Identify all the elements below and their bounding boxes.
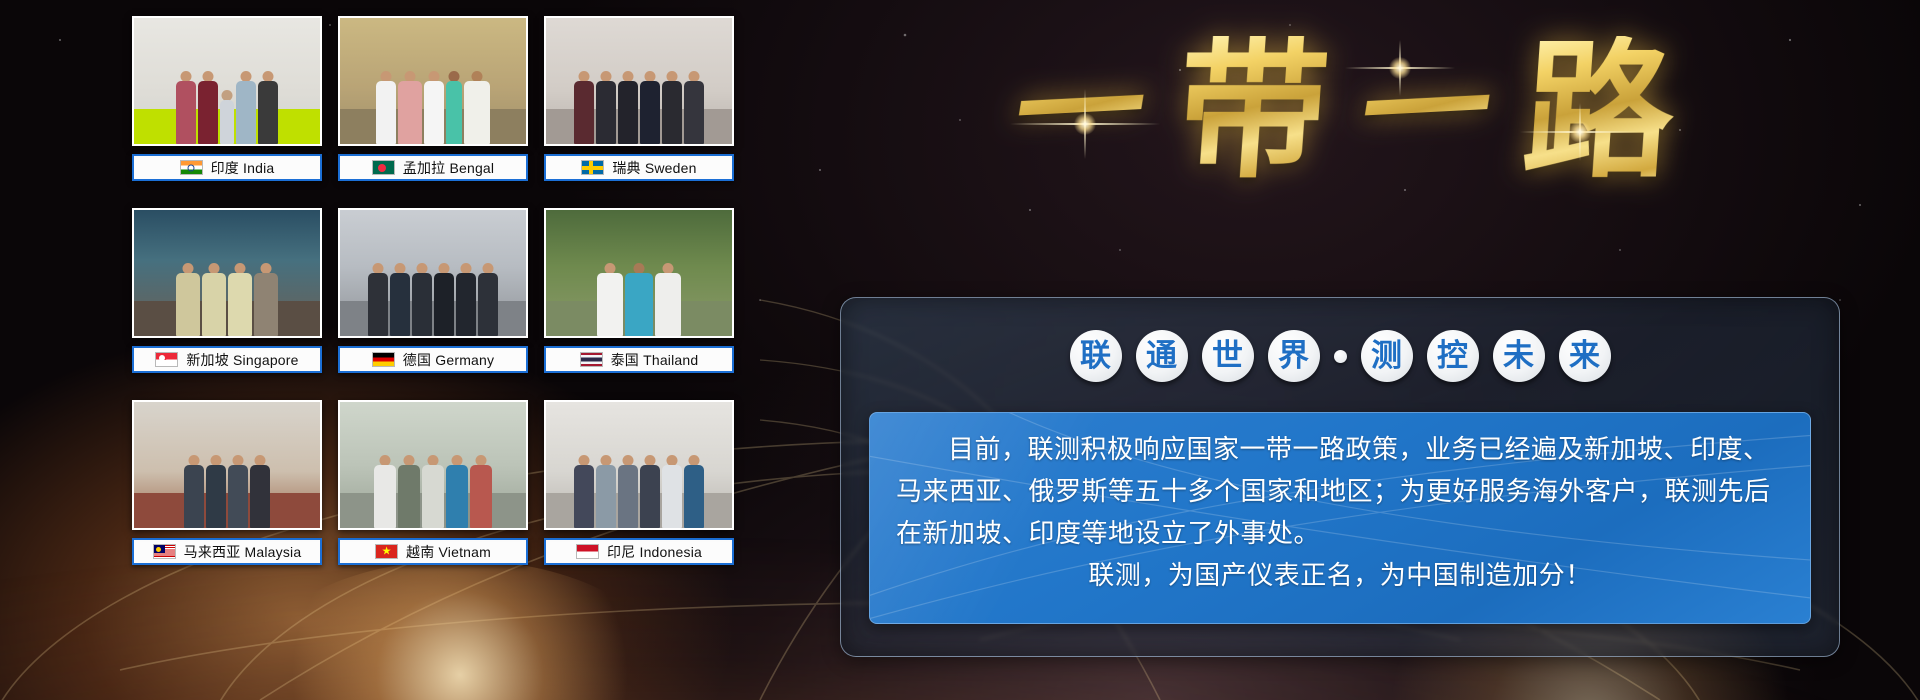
country-label: 印尼 Indonesia <box>544 538 734 565</box>
country-photo[interactable] <box>132 16 322 146</box>
country-label-text: 德国 Germany <box>403 353 494 367</box>
gallery-item[interactable]: 瑞典 Sweden <box>544 16 734 186</box>
country-photo[interactable] <box>338 16 528 146</box>
slogan-char-lian: 联 <box>1070 330 1122 382</box>
country-label-text: 瑞典 Sweden <box>612 161 696 175</box>
gallery-item[interactable]: 越南 Vietnam <box>338 400 528 570</box>
gallery-item[interactable]: 孟加拉 Bengal <box>338 16 528 186</box>
slogan-char-ce: 测 <box>1361 330 1413 382</box>
thailand-flag <box>580 352 603 367</box>
vietnam-flag <box>375 544 398 559</box>
country-label: 新加坡 Singapore <box>132 346 322 373</box>
sweden-flag <box>581 160 604 175</box>
gallery-item[interactable]: 泰国 Thailand <box>544 208 734 378</box>
slogan-char-shi: 世 <box>1202 330 1254 382</box>
country-label: 马来西亚 Malaysia <box>132 538 322 565</box>
slogan-separator-dot <box>1334 350 1347 363</box>
country-label-text: 印度 India <box>211 161 275 175</box>
indonesia-flag <box>576 544 599 559</box>
country-label-text: 泰国 Thailand <box>611 353 699 367</box>
calligraphy-char-2: 带 <box>1173 36 1334 186</box>
country-label: 德国 Germany <box>338 346 528 373</box>
gallery-item[interactable]: 印度 India <box>132 16 322 186</box>
description-paragraph-2: 联测，为国产仪表正名，为中国制造加分！ <box>896 555 1784 597</box>
malaysia-flag <box>153 544 176 559</box>
country-photo[interactable] <box>544 208 734 338</box>
country-label-text: 新加坡 Singapore <box>186 353 298 367</box>
country-label: 越南 Vietnam <box>338 538 528 565</box>
calligraphy-title: 一 带 一 路 <box>840 6 1850 216</box>
right-content-area: 一 带 一 路 联 通 世 界 测 控 未 <box>760 0 1920 700</box>
info-panel: 联 通 世 界 测 控 未 来 <box>840 297 1840 657</box>
singapore-flag <box>155 352 178 367</box>
gallery-item[interactable]: 马来西亚 Malaysia <box>132 400 322 570</box>
slogan-char-wei: 未 <box>1493 330 1545 382</box>
gallery-item[interactable]: 新加坡 Singapore <box>132 208 322 378</box>
germany-flag <box>372 352 395 367</box>
calligraphy-char-1: 一 <box>1005 44 1155 179</box>
description-text: 目前，联测积极响应国家一带一路政策，业务已经遍及新加坡、印度、马来西亚、俄罗斯等… <box>896 429 1784 597</box>
country-photo[interactable] <box>544 400 734 530</box>
country-photo[interactable] <box>338 208 528 338</box>
description-box: 目前，联测积极响应国家一带一路政策，业务已经遍及新加坡、印度、马来西亚、俄罗斯等… <box>869 412 1811 624</box>
country-photo[interactable] <box>338 400 528 530</box>
slogan-char-jie: 界 <box>1268 330 1320 382</box>
slogan-char-lai: 来 <box>1559 330 1611 382</box>
slogan-char-kong: 控 <box>1427 330 1479 382</box>
calligraphy-char-3: 一 <box>1351 44 1501 179</box>
country-photo-gallery: 印度 India 孟加拉 Bengal <box>132 16 752 582</box>
bangladesh-flag <box>372 160 395 175</box>
country-photo[interactable] <box>132 208 322 338</box>
country-photo[interactable] <box>132 400 322 530</box>
calligraphy-char-4: 路 <box>1519 36 1680 186</box>
country-label: 瑞典 Sweden <box>544 154 734 181</box>
gallery-item[interactable]: 印尼 Indonesia <box>544 400 734 570</box>
banner-stage: 印度 India 孟加拉 Bengal <box>0 0 1920 700</box>
country-label-text: 印尼 Indonesia <box>607 545 702 559</box>
country-label: 孟加拉 Bengal <box>338 154 528 181</box>
slogan-row: 联 通 世 界 测 控 未 来 <box>841 330 1839 382</box>
country-label-text: 孟加拉 Bengal <box>403 161 494 175</box>
india-flag <box>180 160 203 175</box>
country-label: 印度 India <box>132 154 322 181</box>
country-photo[interactable] <box>544 16 734 146</box>
gallery-item[interactable]: 德国 Germany <box>338 208 528 378</box>
slogan-char-tong: 通 <box>1136 330 1188 382</box>
country-label: 泰国 Thailand <box>544 346 734 373</box>
country-label-text: 马来西亚 Malaysia <box>184 545 302 559</box>
description-paragraph-1: 目前，联测积极响应国家一带一路政策，业务已经遍及新加坡、印度、马来西亚、俄罗斯等… <box>896 429 1784 555</box>
country-label-text: 越南 Vietnam <box>406 545 491 559</box>
